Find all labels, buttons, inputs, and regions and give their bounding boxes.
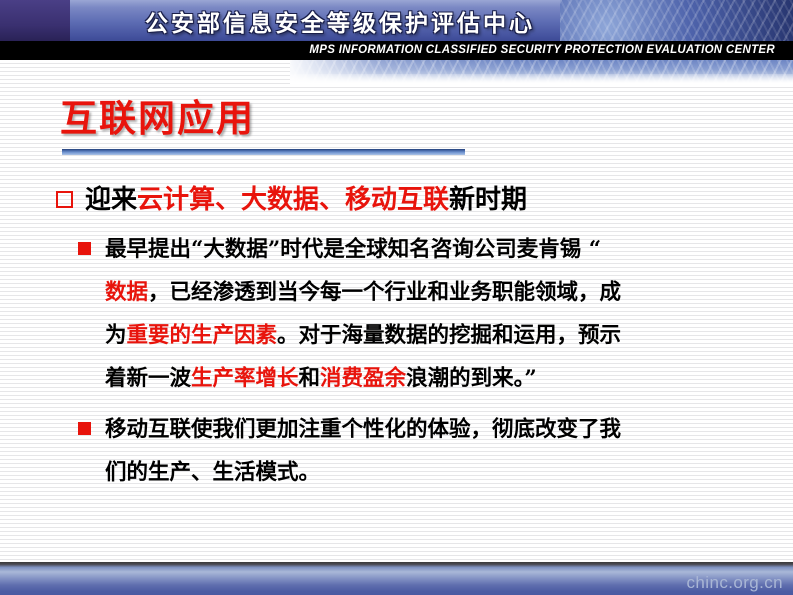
title-area: 互联网应用	[60, 92, 760, 155]
bullet-level2-2-line-2: 们的生产、生活模式。	[105, 451, 775, 494]
bullet-level1-seg-2: 云计算、大数据、移动互联	[137, 185, 449, 215]
hollow-square-bullet-icon	[56, 191, 73, 208]
footer-bar	[0, 562, 793, 595]
bullet-level2-row-1: 最早提出“大数据”时代是全球知名咨询公司麦肯锡 “ 数据，已经渗透到当今每一个行…	[0, 228, 793, 400]
seg: 着新一波	[105, 366, 191, 391]
bullet-level2-2-line-1: 移动互联使我们更加注重个性化的体验，彻底改变了我	[105, 408, 775, 451]
footer-watermark: chinc.org.cn	[687, 573, 783, 593]
header-english-title: MPS INFORMATION CLASSIFIED SECURITY PROT…	[0, 41, 775, 60]
bullet-level2-1-line-3: 为重要的生产因素。对于海量数据的挖掘和运用，预示	[105, 314, 775, 357]
title-underline-rule	[62, 149, 465, 155]
header-chinese-title: 公安部信息安全等级保护评估中心	[120, 4, 560, 44]
bullet-level2-row-2: 移动互联使我们更加注重个性化的体验，彻底改变了我 们的生产、生活模式。	[0, 408, 793, 494]
bullet-level2-1-line-1: 最早提出“大数据”时代是全球知名咨询公司麦肯锡 “	[105, 228, 775, 271]
seg: ，已经渗透到当今每一个行业和业务职能领域，成	[148, 280, 621, 305]
seg: 数据	[105, 280, 148, 305]
header-lower-fade-bottom	[290, 74, 793, 84]
seg: 最早提出“大数据”时代是全球知名咨询公司麦肯锡 “	[105, 237, 601, 262]
bullet-level2-text-1: 最早提出“大数据”时代是全球知名咨询公司麦肯锡 “ 数据，已经渗透到当今每一个行…	[105, 228, 775, 400]
seg: 浪潮的到来。”	[406, 366, 537, 391]
bullet-level2-1-line-2: 数据，已经渗透到当今每一个行业和业务职能领域，成	[105, 271, 775, 314]
bullet-level1-row: 迎来云计算、大数据、移动互联新时期	[0, 180, 793, 220]
seg: 移动互联使我们更加注重个性化的体验，彻底改变了我	[105, 417, 621, 442]
page-title: 互联网应用	[60, 92, 760, 144]
bullet-level1-text: 迎来云计算、大数据、移动互联新时期	[85, 180, 527, 220]
header-banner: 公安部信息安全等级保护评估中心 MPS INFORMATION CLASSIFI…	[0, 0, 793, 84]
filled-square-bullet-icon	[78, 242, 91, 255]
bullet-level1-seg-3: 新时期	[449, 185, 527, 215]
seg: 生产率增长	[191, 366, 299, 391]
seg: 。对于海量数据的挖掘和运用，预示	[277, 323, 621, 348]
seg: 消费盈余	[320, 366, 406, 391]
bullet-level2-text-2: 移动互联使我们更加注重个性化的体验，彻底改变了我 们的生产、生活模式。	[105, 408, 775, 494]
bullet-level2-1-line-4: 着新一波生产率增长和消费盈余浪潮的到来。”	[105, 357, 775, 400]
slide-content: 迎来云计算、大数据、移动互联新时期 最早提出“大数据”时代是全球知名咨询公司麦肯…	[0, 180, 793, 494]
seg: 为	[105, 323, 127, 348]
seg: 们的生产、生活模式。	[105, 460, 320, 485]
header-circuit-art	[560, 0, 793, 46]
bullet-level1-seg-1: 迎来	[85, 185, 137, 215]
slide-canvas: 公安部信息安全等级保护评估中心 MPS INFORMATION CLASSIFI…	[0, 0, 793, 595]
seg: 和	[299, 366, 321, 391]
filled-square-bullet-icon	[78, 422, 91, 435]
seg: 重要的生产因素	[127, 323, 278, 348]
